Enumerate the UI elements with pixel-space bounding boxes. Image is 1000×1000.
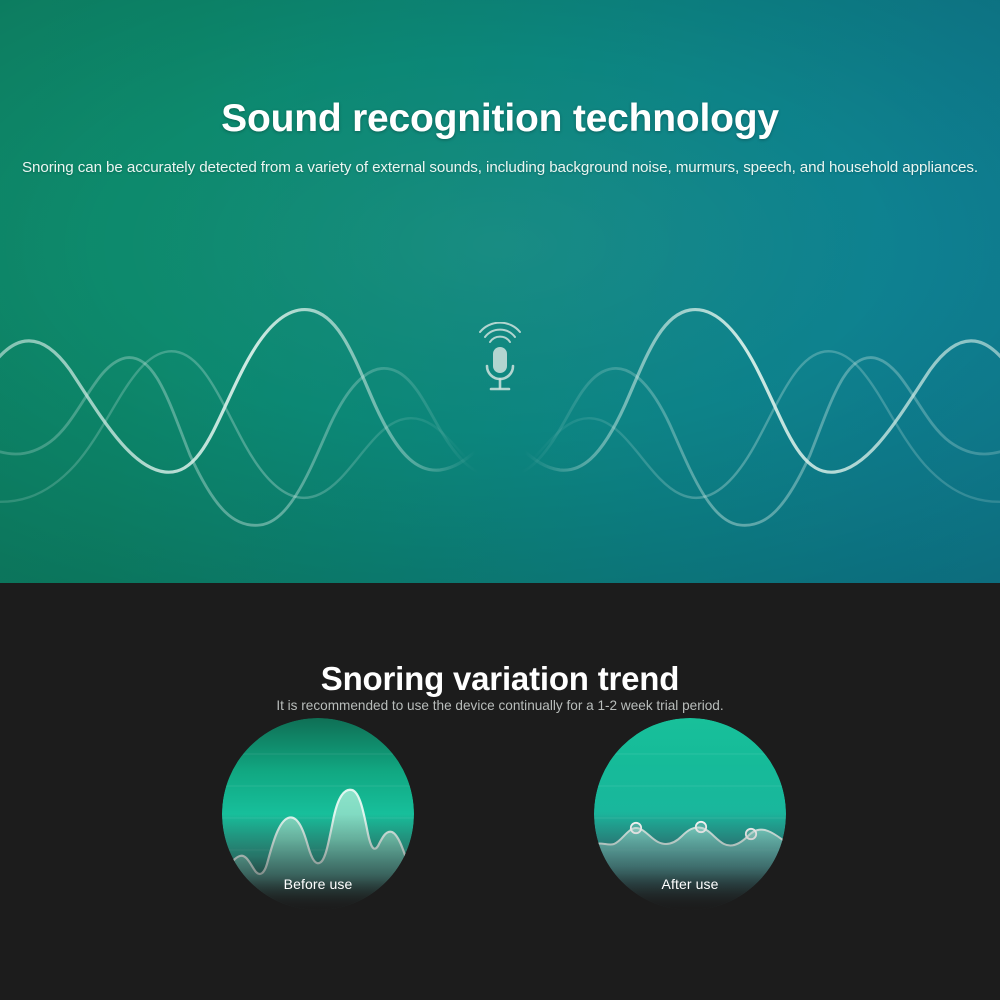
page-title: Sound recognition technology — [0, 97, 1000, 141]
trend-subtitle: It is recommended to use the device cont… — [0, 698, 1000, 713]
waveform-line-left-secondary — [0, 358, 478, 526]
chart-bottom-fade — [222, 814, 414, 910]
trend-title: Snoring variation trend — [0, 660, 1000, 698]
snoring-variation-trend-section: Snoring variation trend It is recommende… — [0, 583, 1000, 1000]
page-subtitle: Snoring can be accurately detected from … — [0, 159, 1000, 176]
microphone-icon — [472, 322, 528, 398]
waveform-line-right-secondary — [522, 358, 1000, 526]
waveform-line-right-primary — [525, 310, 1000, 473]
before-use-chart — [222, 718, 414, 910]
before-use-chart-card: Before use — [222, 718, 414, 910]
chart-bottom-fade — [594, 814, 786, 910]
after-use-chart — [594, 718, 786, 910]
sound-recognition-section: Sound recognition technology Snoring can… — [0, 0, 1000, 583]
after-use-chart-card: After use — [594, 718, 786, 910]
product-feature-page: Sound recognition technology Snoring can… — [0, 0, 1000, 1000]
trend-comparison-charts: Before use — [0, 718, 1000, 948]
waveform-line-left-primary — [0, 310, 475, 473]
